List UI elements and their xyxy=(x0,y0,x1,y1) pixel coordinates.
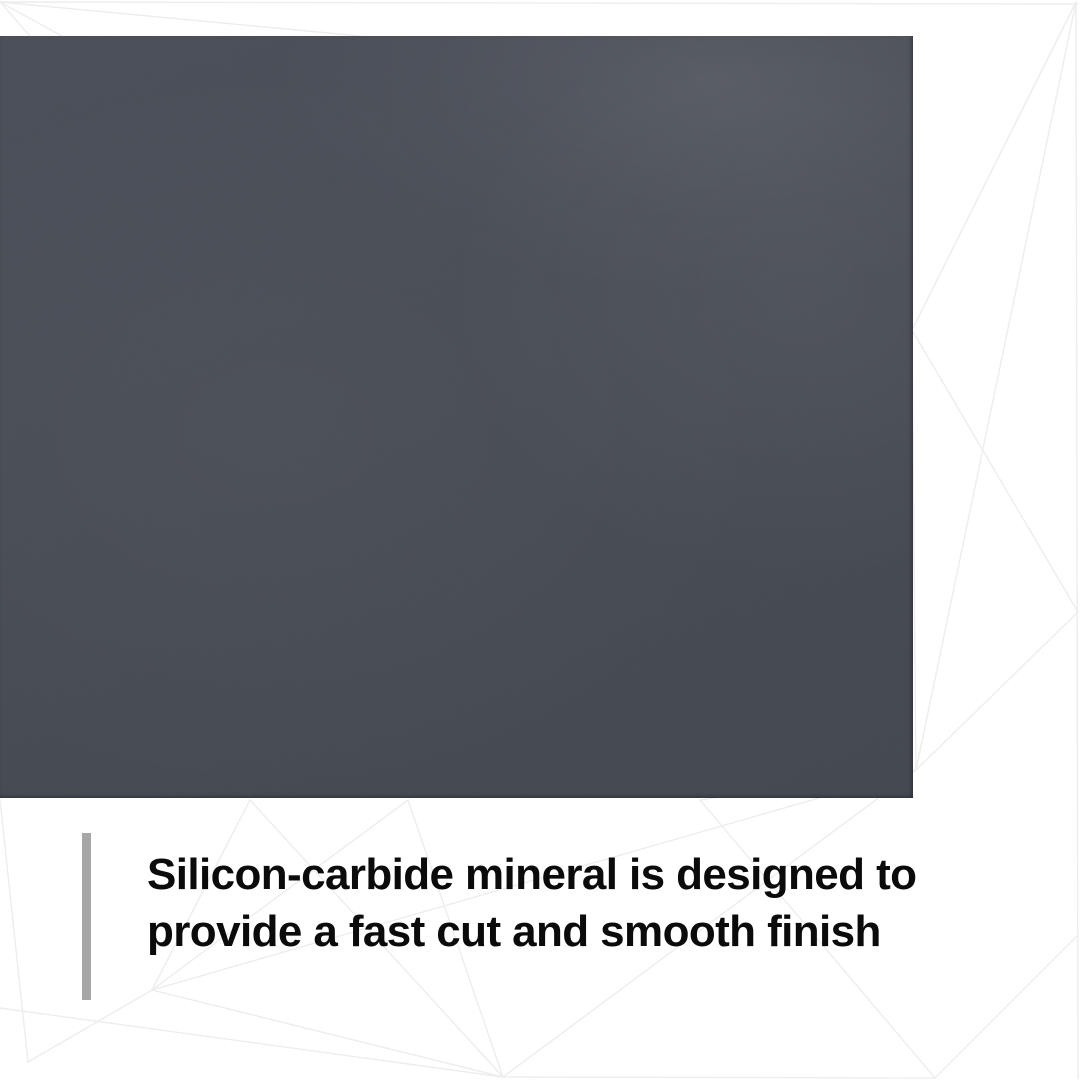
product-photo-sandpaper-sheet xyxy=(0,36,913,798)
polygon-line xyxy=(912,330,1078,612)
polygon-line xyxy=(503,1077,935,1078)
polygon-line xyxy=(912,2,1076,330)
polygon-line xyxy=(0,2,1078,4)
photo-grain-texture xyxy=(0,36,913,798)
caption-text: Silicon-carbide mineral is designed to p… xyxy=(147,846,947,960)
caption-block: Silicon-carbide mineral is designed to p… xyxy=(0,820,1080,1020)
polygon-line xyxy=(0,2,62,36)
polygon-line xyxy=(0,2,30,36)
accent-bar xyxy=(82,833,91,1000)
polygon-line xyxy=(0,2,360,36)
polygon-line xyxy=(916,612,1078,770)
product-feature-card: Silicon-carbide mineral is designed to p… xyxy=(0,0,1080,1080)
polygon-line xyxy=(916,2,1076,770)
